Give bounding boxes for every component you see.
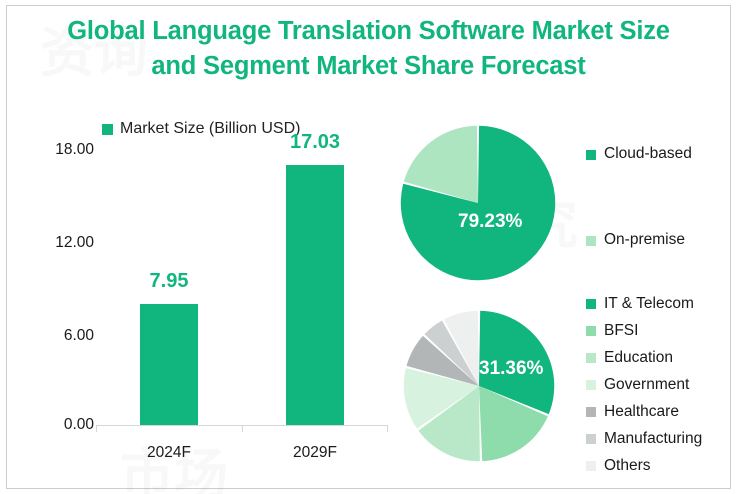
legend-label-it-telecom: IT & Telecom bbox=[604, 295, 694, 313]
legend-item-government[interactable]: Government bbox=[586, 371, 702, 398]
legend-label-on-premise: On-premise bbox=[604, 231, 685, 249]
application-share-pie-chart: 31.36% bbox=[403, 310, 555, 462]
x-tick-label-2024f: 2024F bbox=[147, 444, 191, 462]
y-tick-label: 6.00 bbox=[22, 327, 94, 345]
legend-swatch-manufacturing bbox=[586, 434, 596, 444]
bar-plot-area: 7.95 17.03 2024F 2029F bbox=[96, 112, 388, 470]
y-tick-label: 0.00 bbox=[22, 416, 94, 434]
axis-tick bbox=[96, 426, 97, 432]
legend-label-cloud-based: Cloud-based bbox=[604, 145, 692, 163]
application-pie-svg bbox=[403, 310, 555, 462]
bar-2024f[interactable] bbox=[140, 304, 198, 425]
legend-item-others[interactable]: Others bbox=[586, 452, 702, 479]
legend-label-government: Government bbox=[604, 376, 689, 394]
legend-label-bfsi: BFSI bbox=[604, 322, 638, 340]
legend-item-manufacturing[interactable]: Manufacturing bbox=[586, 425, 702, 452]
legend-label-education: Education bbox=[604, 349, 673, 367]
legend-item-cloud-based[interactable]: Cloud-based bbox=[586, 145, 692, 231]
y-tick-label: 18.00 bbox=[22, 141, 94, 159]
page-title-line-2: and Segment Market Share Forecast bbox=[18, 49, 719, 84]
bar-value-2029f: 17.03 bbox=[290, 131, 340, 154]
bar-value-2024f: 7.95 bbox=[150, 270, 189, 293]
x-tick-label-2029f: 2029F bbox=[293, 444, 337, 462]
deployment-share-pie-chart: 79.23% bbox=[400, 125, 556, 281]
page-title: Global Language Translation Software Mar… bbox=[18, 14, 719, 84]
legend-swatch-education bbox=[586, 353, 596, 363]
legend-item-healthcare[interactable]: Healthcare bbox=[586, 398, 702, 425]
bar-2029f[interactable] bbox=[286, 165, 344, 425]
legend-swatch-it-telecom bbox=[586, 299, 596, 309]
pie-slice-label-cloud-based: 79.23% bbox=[458, 211, 522, 233]
y-tick-label: 12.00 bbox=[22, 234, 94, 252]
deployment-pie-svg bbox=[400, 125, 556, 281]
application-legend: IT & Telecom BFSI Education Government H… bbox=[586, 290, 702, 479]
y-axis: 18.00 12.00 6.00 0.00 bbox=[16, 112, 94, 470]
market-size-bar-chart: Market Size (Billion USD) 18.00 12.00 6.… bbox=[10, 112, 388, 470]
legend-swatch-government bbox=[586, 380, 596, 390]
legend-swatch-on-premise bbox=[586, 236, 596, 246]
legend-swatch-bfsi bbox=[586, 326, 596, 336]
legend-swatch-healthcare bbox=[586, 407, 596, 417]
axis-tick bbox=[387, 426, 388, 432]
page-title-line-1: Global Language Translation Software Mar… bbox=[18, 14, 719, 49]
legend-label-others: Others bbox=[604, 457, 651, 475]
pie-slice-label-it-telecom: 31.36% bbox=[479, 358, 543, 380]
chart-card: 资询 研究 市场 Global Language Translation Sof… bbox=[0, 0, 737, 494]
legend-item-bfsi[interactable]: BFSI bbox=[586, 317, 702, 344]
legend-swatch-others bbox=[586, 461, 596, 471]
legend-item-it-telecom[interactable]: IT & Telecom bbox=[586, 290, 702, 317]
legend-item-education[interactable]: Education bbox=[586, 344, 702, 371]
legend-label-healthcare: Healthcare bbox=[604, 403, 679, 421]
legend-label-manufacturing: Manufacturing bbox=[604, 430, 702, 448]
axis-tick bbox=[242, 426, 243, 432]
legend-swatch-cloud-based bbox=[586, 150, 596, 160]
